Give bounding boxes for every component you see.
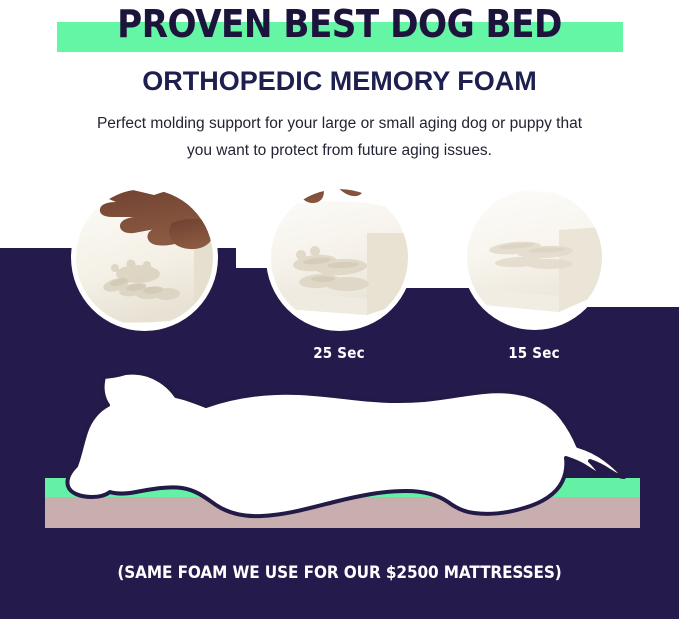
page-blurb: Perfect molding support for your large o…	[95, 110, 585, 164]
dog-on-bed-illustration	[0, 360, 679, 540]
foam-hand-press-image	[76, 189, 213, 326]
title-wrap: PROVEN BEST DOG BED	[0, 0, 679, 58]
promo-graphic: PROVEN BEST DOG BED ORTHOPEDIC MEMORY FO…	[0, 0, 679, 619]
header-block: PROVEN BEST DOG BED ORTHOPEDIC MEMORY FO…	[0, 0, 679, 164]
page-title: PROVEN BEST DOG BED	[0, 1, 679, 47]
foam-circle-hand-press[interactable]	[76, 189, 213, 326]
page-subtitle: ORTHOPEDIC MEMORY FOAM	[0, 64, 679, 98]
foam-circle-rebound-15[interactable]	[467, 190, 602, 325]
foam-circle-rebound-25[interactable]	[271, 189, 408, 326]
footer-note: (SAME FOAM WE USE FOR OUR $2500 MATTRESS…	[0, 563, 679, 583]
foam-rebound-25-image	[271, 189, 408, 326]
foam-rebound-15-image	[467, 190, 602, 325]
